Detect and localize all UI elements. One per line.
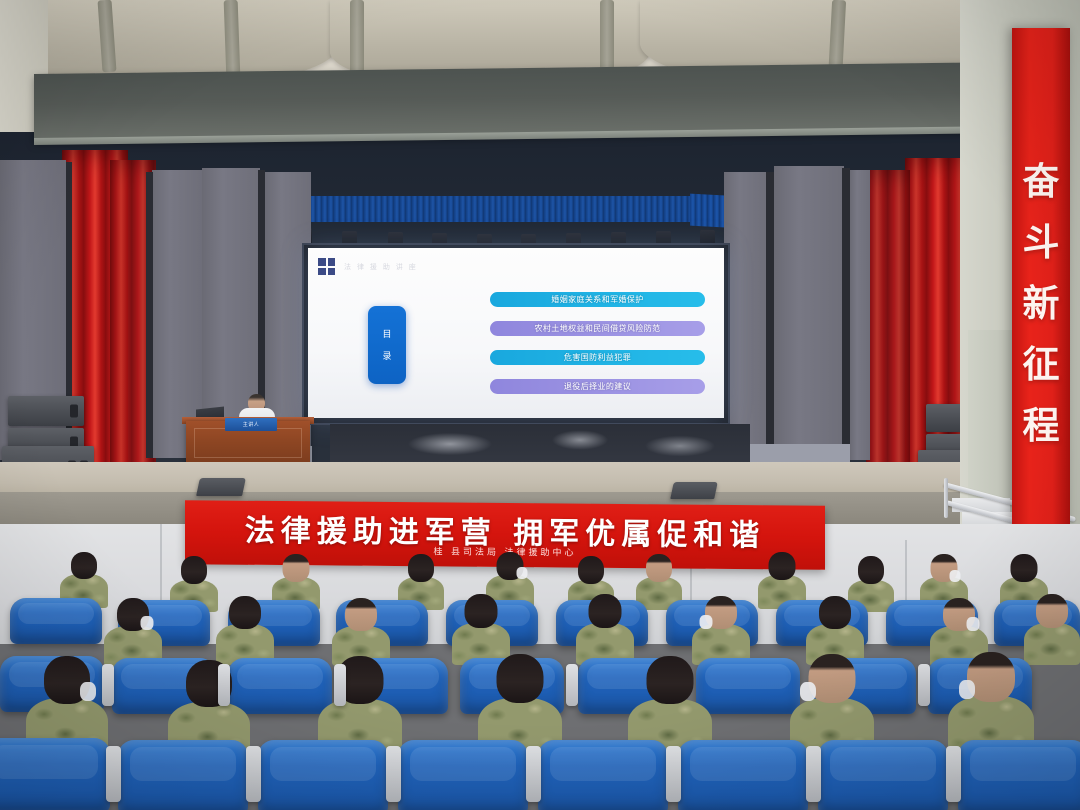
seat-armrest [102,664,114,706]
audience-person [332,598,390,664]
auditorium-seat[interactable] [258,740,388,810]
slide-toc-box: 目 录 [368,306,406,384]
audience-seating [0,560,1080,810]
stage-panel [152,170,202,458]
line-array-speaker [8,396,84,426]
slide-bullet-4: 退役后择业的建议 [490,379,705,394]
podium-nameplate: 主讲人 [225,418,277,431]
seat-armrest [386,746,401,802]
auditorium-seat[interactable] [398,740,528,810]
slide-header-text: 法 律 援 助 讲 座 [344,262,418,272]
ceiling-strap [224,0,241,78]
seat-armrest [334,664,346,706]
stage-valance [268,196,738,222]
audience-person [576,594,634,664]
slide-bullet-1: 婚姻家庭关系和军婚保护 [490,292,705,307]
audience-person [636,554,682,608]
toc-char-2: 录 [382,352,391,361]
vertical-banner-char-3: 新 [1023,285,1060,322]
seat-armrest [666,746,681,802]
auditorium-seat[interactable] [0,738,110,810]
panel-edge [842,168,850,462]
slide-bullet-2: 农村土地权益和民间借贷风险防范 [490,321,705,336]
audience-person [216,596,274,664]
auditorium-seat[interactable] [958,740,1080,810]
vertical-banner: 奋 斗 新 征 程 [1012,28,1070,528]
stage-monitor-wedge [196,478,246,496]
podium-panel-inset [194,428,302,458]
vertical-banner-char-2: 斗 [1023,224,1060,261]
audience-person [790,654,874,754]
slide-bullet-list: 婚姻家庭关系和军婚保护 农村土地权益和民间借贷风险防范 危害国防利益犯罪 退役后… [490,292,705,394]
seat-armrest [526,746,541,802]
stage-panel [724,172,768,460]
stage-monitor-wedge [670,482,718,499]
slide-bullet-3: 危害国防利益犯罪 [490,350,705,365]
auditorium-seat[interactable] [818,740,948,810]
audience-person [692,596,750,664]
projection-screen: 法 律 援 助 讲 座 目 录 婚姻家庭关系和军婚保护 农村土地权益和民间借贷风… [308,248,724,418]
auditorium-seat[interactable] [118,740,248,810]
seat-armrest [246,746,261,802]
four-square-logo [318,258,335,275]
audience-person [948,652,1034,754]
auditorium-seat[interactable] [678,740,808,810]
panel-edge [766,172,774,462]
panel-edge [146,172,153,458]
seat-armrest [106,746,121,802]
vertical-banner-char-4: 征 [1023,346,1060,383]
vertical-banner-char-5: 程 [1023,407,1060,444]
seat-armrest [806,746,821,802]
seat-armrest [566,664,578,706]
seat-armrest [918,664,930,706]
seat-armrest [218,664,230,706]
seat-armrest [946,746,961,802]
auditorium-seat[interactable] [538,740,668,810]
ceiling-strap [350,0,364,80]
vertical-banner-char-1: 奋 [1023,163,1060,200]
stage-panel [850,170,870,460]
toc-char-1: 目 [382,330,391,339]
audience-person [104,598,162,664]
photo-scene: 法 律 援 助 讲 座 目 录 婚姻家庭关系和军婚保护 农村土地权益和民间借贷风… [0,0,1080,810]
stage-curtain-right [866,170,910,488]
handrail-post [944,478,948,518]
audience-person [478,654,562,754]
stage-panel [774,166,844,462]
auditorium-seat[interactable] [10,598,102,644]
